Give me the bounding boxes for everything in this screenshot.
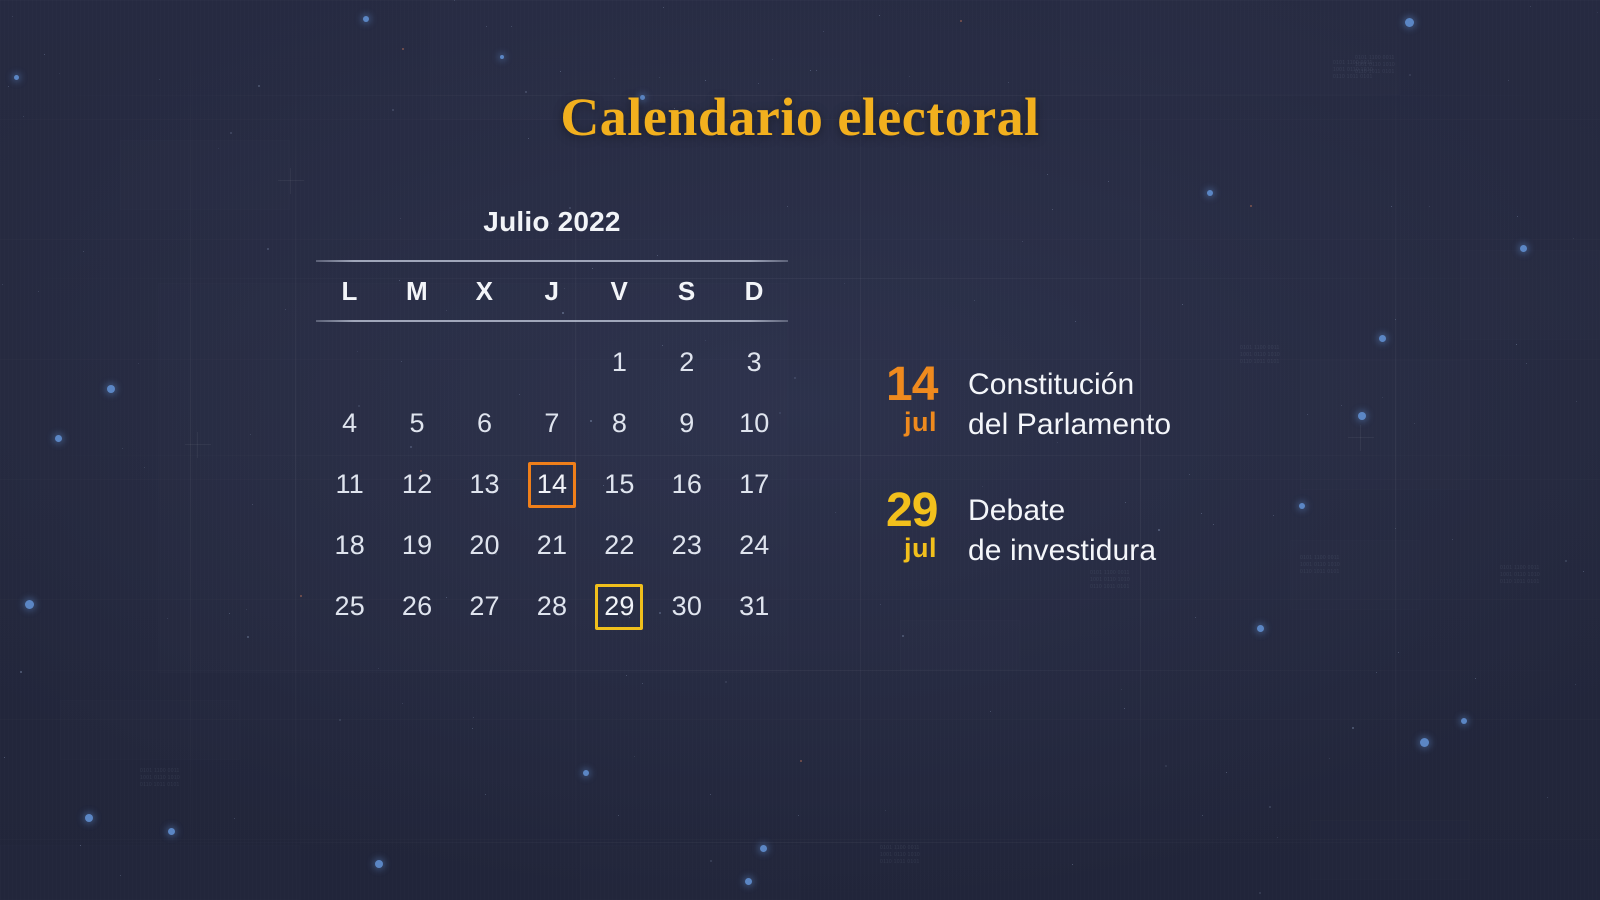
calendar-day-25[interactable]: 25 [316, 576, 383, 637]
background-glow-dot [1461, 718, 1467, 724]
background-speck [250, 434, 251, 435]
calendar-day-value: 22 [595, 523, 643, 569]
calendar-day-value: 11 [326, 462, 374, 508]
calendar-day-22[interactable]: 22 [586, 515, 653, 576]
calendar-day-highlight-box: 29 [595, 584, 643, 630]
background-speck [247, 636, 249, 638]
calendar-day-27[interactable]: 27 [451, 576, 518, 637]
background-speck [1452, 539, 1453, 540]
background-glow-dot [25, 600, 34, 609]
background-speck [844, 283, 845, 284]
calendar-day-7[interactable]: 7 [518, 393, 585, 454]
background-speck [1398, 652, 1399, 653]
background-speck [710, 860, 712, 862]
calendar-day-value: 21 [528, 523, 576, 569]
calendar-day-value: 7 [528, 401, 576, 447]
background-glow-dot [1257, 625, 1264, 632]
event-legend: 14julConstitucióndel Parlamento29julDeba… [886, 362, 1406, 570]
calendar-day-value: 23 [663, 523, 711, 569]
background-speck [1475, 678, 1476, 679]
calendar-day-6[interactable]: 6 [451, 393, 518, 454]
calendar-month-label: Julio 2022 [316, 206, 788, 260]
calendar-weekday-m: M [383, 276, 450, 307]
slide-canvas: 0101 1100 0011 1001 0110 1010 0110 1011 … [0, 0, 1600, 900]
background-speck [634, 756, 635, 757]
calendar-bottom-rule [316, 320, 788, 322]
calendar-weekday-row: LMXJVSD [316, 262, 788, 320]
background-speck [218, 148, 219, 149]
calendar-day-value: 5 [393, 401, 441, 447]
background-speck [1072, 864, 1073, 865]
background-speck [1526, 363, 1527, 364]
background-glow-dot [583, 770, 589, 776]
background-speck [252, 504, 253, 505]
background-speck [1226, 772, 1227, 773]
calendar-day-value: 8 [595, 401, 643, 447]
calendar-day-3[interactable]: 3 [721, 332, 788, 393]
calendar-day-value: 17 [730, 462, 778, 508]
background-speck [1195, 617, 1196, 618]
calendar-day-value: 24 [730, 523, 778, 569]
background-speck [1124, 708, 1125, 709]
background-speck [1052, 209, 1053, 210]
background-speck [798, 815, 799, 816]
background-speck [472, 728, 473, 729]
calendar-day-value: 6 [461, 401, 509, 447]
calendar-day-value: 20 [461, 523, 509, 569]
calendar-day-12[interactable]: 12 [383, 454, 450, 515]
calendar-day-empty [518, 332, 585, 393]
calendar-day-10[interactable]: 10 [721, 393, 788, 454]
calendar-day-26[interactable]: 26 [383, 576, 450, 637]
calendar-day-31[interactable]: 31 [721, 576, 788, 637]
background-speck [229, 613, 230, 614]
background-speck [1429, 206, 1430, 207]
background-glow-dot [760, 845, 767, 852]
background-speck [614, 78, 615, 79]
background-speck [120, 875, 121, 876]
background-speck [59, 73, 60, 74]
background-horizontal-line [0, 670, 1600, 671]
background-glow-dot [85, 814, 93, 822]
calendar-day-30[interactable]: 30 [653, 576, 720, 637]
background-glow-dot [1520, 245, 1527, 252]
event-date: 29jul [886, 488, 968, 562]
background-speck [758, 83, 759, 84]
background-speck [659, 77, 660, 78]
background-speck [823, 31, 824, 32]
calendar-day-empty [451, 332, 518, 393]
background-microtext-block: 0101 1100 0011 1001 0110 1010 0110 1011 … [140, 768, 180, 789]
background-glow-dot [363, 16, 369, 22]
background-glow-dot [14, 75, 19, 80]
background-speck [1075, 321, 1076, 322]
background-speck [1022, 241, 1023, 242]
background-speck [909, 76, 910, 77]
calendar-day-21[interactable]: 21 [518, 515, 585, 576]
calendar-weekday-d: D [721, 276, 788, 307]
background-crosshair [278, 168, 304, 194]
calendar-day-value: 31 [730, 584, 778, 630]
background-speck [1121, 689, 1122, 690]
calendar-day-value: 18 [326, 523, 374, 569]
background-warm-speck [800, 760, 802, 762]
background-glow-dot [1379, 335, 1386, 342]
event-description-line1: Debate [968, 491, 1156, 531]
calendar-day-29[interactable]: 29 [586, 576, 653, 637]
background-warm-speck [960, 20, 962, 22]
event-description-line2: de investidura [968, 531, 1156, 571]
background-speck [12, 16, 13, 17]
calendar-day-value: 15 [595, 462, 643, 508]
calendar-day-value: 19 [393, 523, 441, 569]
calendar-day-value: 1 [595, 340, 643, 386]
background-horizontal-line [0, 842, 1600, 843]
background-block [120, 140, 290, 210]
background-speck [1376, 672, 1377, 673]
background-glow-dot [745, 878, 752, 885]
calendar-day-value: 30 [663, 584, 711, 630]
background-speck [339, 719, 341, 721]
calendar-day-value: 16 [663, 462, 711, 508]
event-item-14[interactable]: 14julConstitucióndel Parlamento [886, 362, 1406, 444]
background-warm-speck [300, 595, 302, 597]
background-speck [38, 291, 39, 292]
calendar-day-13[interactable]: 13 [451, 454, 518, 515]
calendar-day-value: 25 [326, 584, 374, 630]
calendar-day-8[interactable]: 8 [586, 393, 653, 454]
calendar-day-highlight-box: 14 [528, 462, 576, 508]
background-glow-dot [500, 55, 504, 59]
background-speck [710, 794, 711, 795]
calendar-day-value: 13 [461, 462, 509, 508]
calendar-day-15[interactable]: 15 [586, 454, 653, 515]
background-microtext-block: 0101 1100 0011 1001 0110 1010 0110 1011 … [880, 845, 920, 866]
background-speck [618, 815, 619, 816]
event-month-abbr: jul [886, 535, 968, 562]
calendar-day-value: 26 [393, 584, 441, 630]
calendar-day-1[interactable]: 1 [586, 332, 653, 393]
background-glow-dot [1207, 190, 1213, 196]
event-day-number: 14 [886, 362, 968, 408]
background-speck [234, 818, 235, 819]
background-speck [285, 309, 286, 310]
background-speck [486, 26, 487, 27]
calendar-weekday-s: S [653, 276, 720, 307]
background-speck [485, 794, 486, 795]
calendar-day-14[interactable]: 14 [518, 454, 585, 515]
calendar-day-2[interactable]: 2 [653, 332, 720, 393]
background-speck [20, 671, 22, 673]
background-speck [122, 448, 123, 449]
background-glow-dot [168, 828, 175, 835]
background-speck [885, 810, 886, 811]
background-speck [1008, 82, 1009, 83]
background-speck [1409, 74, 1411, 76]
background-microtext-block: 0101 1100 0011 1001 0110 1010 0110 1011 … [1090, 570, 1130, 591]
event-item-29[interactable]: 29julDebatede investidura [886, 488, 1406, 570]
calendar-widget: Julio 2022 LMXJVSD 123456789101112131415… [316, 206, 788, 637]
background-speck [138, 363, 139, 364]
background-speck [1047, 174, 1048, 175]
background-speck [44, 54, 45, 55]
background-speck [1269, 806, 1271, 808]
background-speck [1508, 80, 1509, 81]
background-speck [2, 284, 3, 285]
background-speck [626, 675, 627, 676]
background-speck [663, 7, 664, 8]
calendar-day-value: 3 [730, 340, 778, 386]
background-speck [1329, 758, 1330, 759]
calendar-day-value: 28 [528, 584, 576, 630]
event-date: 14jul [886, 362, 968, 436]
background-warm-speck [402, 48, 404, 50]
calendar-day-value: 4 [326, 401, 374, 447]
background-speck [1516, 344, 1517, 345]
background-speck [1277, 837, 1278, 838]
background-speck [167, 618, 168, 619]
background-speck [1395, 319, 1396, 320]
background-speck [473, 717, 474, 718]
page-title: Calendario electoral [0, 86, 1600, 148]
background-microtext-block: 0101 1100 0011 1001 0110 1010 0110 1011 … [1355, 55, 1395, 76]
background-glow-dot [375, 860, 383, 868]
background-speck [705, 80, 706, 81]
background-speck [880, 604, 881, 605]
background-microtext-block: 0101 1100 0011 1001 0110 1010 0110 1011 … [1500, 565, 1540, 586]
background-speck [560, 71, 561, 72]
calendar-weekday-j: J [518, 276, 585, 307]
background-block [580, 845, 800, 900]
calendar-day-17[interactable]: 17 [721, 454, 788, 515]
calendar-day-16[interactable]: 16 [653, 454, 720, 515]
background-speck [1108, 181, 1109, 182]
background-speck [511, 26, 512, 27]
event-day-number: 29 [886, 488, 968, 534]
calendar-weekday-v: V [586, 276, 653, 307]
background-speck [1352, 727, 1354, 729]
calendar-day-11[interactable]: 11 [316, 454, 383, 515]
calendar-day-empty [316, 332, 383, 393]
background-glow-dot [1420, 738, 1429, 747]
event-description: Constitucióndel Parlamento [968, 362, 1171, 444]
background-glow-dot [1405, 18, 1414, 27]
background-speck [80, 845, 81, 846]
calendar-day-19[interactable]: 19 [383, 515, 450, 576]
calendar-day-grid: 1234567891011121314151617181920212223242… [316, 332, 788, 637]
background-speck [725, 681, 727, 683]
background-speck [144, 467, 145, 468]
calendar-day-value: 2 [663, 340, 711, 386]
background-horizontal-line [0, 278, 1600, 279]
background-speck [1573, 238, 1574, 239]
calendar-day-9[interactable]: 9 [653, 393, 720, 454]
background-speck [1576, 401, 1577, 402]
background-block [1060, 0, 1400, 95]
calendar-day-value: 27 [461, 584, 509, 630]
background-speck [974, 300, 975, 301]
background-speck [816, 70, 817, 71]
background-speck [246, 609, 247, 610]
calendar-day-value: 9 [663, 401, 711, 447]
background-block [900, 620, 1020, 670]
background-speck [1259, 892, 1261, 894]
background-speck [1414, 423, 1415, 424]
background-speck [1575, 684, 1576, 685]
background-speck [1583, 571, 1584, 572]
background-speck [902, 635, 904, 637]
background-block [60, 700, 240, 760]
calendar-day-24[interactable]: 24 [721, 515, 788, 576]
calendar-day-28[interactable]: 28 [518, 576, 585, 637]
background-speck [83, 251, 84, 252]
background-speck [1547, 797, 1548, 798]
event-description-line1: Constitución [968, 365, 1171, 405]
background-crosshair [185, 432, 211, 458]
background-speck [1565, 560, 1567, 562]
background-block [0, 845, 300, 900]
calendar-day-18[interactable]: 18 [316, 515, 383, 576]
background-speck [835, 512, 836, 513]
background-warm-speck [1250, 205, 1252, 207]
calendar-day-23[interactable]: 23 [653, 515, 720, 576]
background-speck [1530, 6, 1531, 7]
background-microtext-block: 0101 1100 0011 1001 0110 1010 0110 1011 … [1333, 60, 1373, 81]
calendar-day-value: 12 [393, 462, 441, 508]
event-description-line2: del Parlamento [968, 405, 1171, 445]
background-speck [810, 70, 811, 71]
calendar-day-20[interactable]: 20 [451, 515, 518, 576]
background-speck [642, 683, 643, 684]
background-speck [772, 59, 773, 60]
calendar-day-5[interactable]: 5 [383, 393, 450, 454]
event-month-abbr: jul [886, 409, 968, 436]
background-speck [378, 668, 379, 669]
background-speck [1202, 815, 1203, 816]
background-speck [1517, 216, 1518, 217]
background-glow-dot [55, 435, 62, 442]
background-speck [990, 711, 991, 712]
calendar-day-value: 10 [730, 401, 778, 447]
background-speck [4, 757, 5, 758]
event-description: Debatede investidura [968, 488, 1156, 570]
background-speck [1165, 765, 1167, 767]
background-speck [402, 703, 403, 704]
background-speck [159, 79, 160, 80]
background-speck [794, 377, 796, 379]
background-speck [879, 15, 880, 16]
background-glow-dot [107, 385, 115, 393]
background-speck [1597, 12, 1598, 13]
calendar-day-empty [383, 332, 450, 393]
calendar-day-4[interactable]: 4 [316, 393, 383, 454]
calendar-weekday-x: X [451, 276, 518, 307]
background-block [1460, 250, 1600, 340]
background-speck [267, 248, 269, 250]
calendar-weekday-l: L [316, 276, 383, 307]
background-block [1310, 820, 1470, 880]
background-speck [1182, 304, 1183, 305]
background-speck [454, 0, 455, 1]
background-speck [1391, 206, 1392, 207]
